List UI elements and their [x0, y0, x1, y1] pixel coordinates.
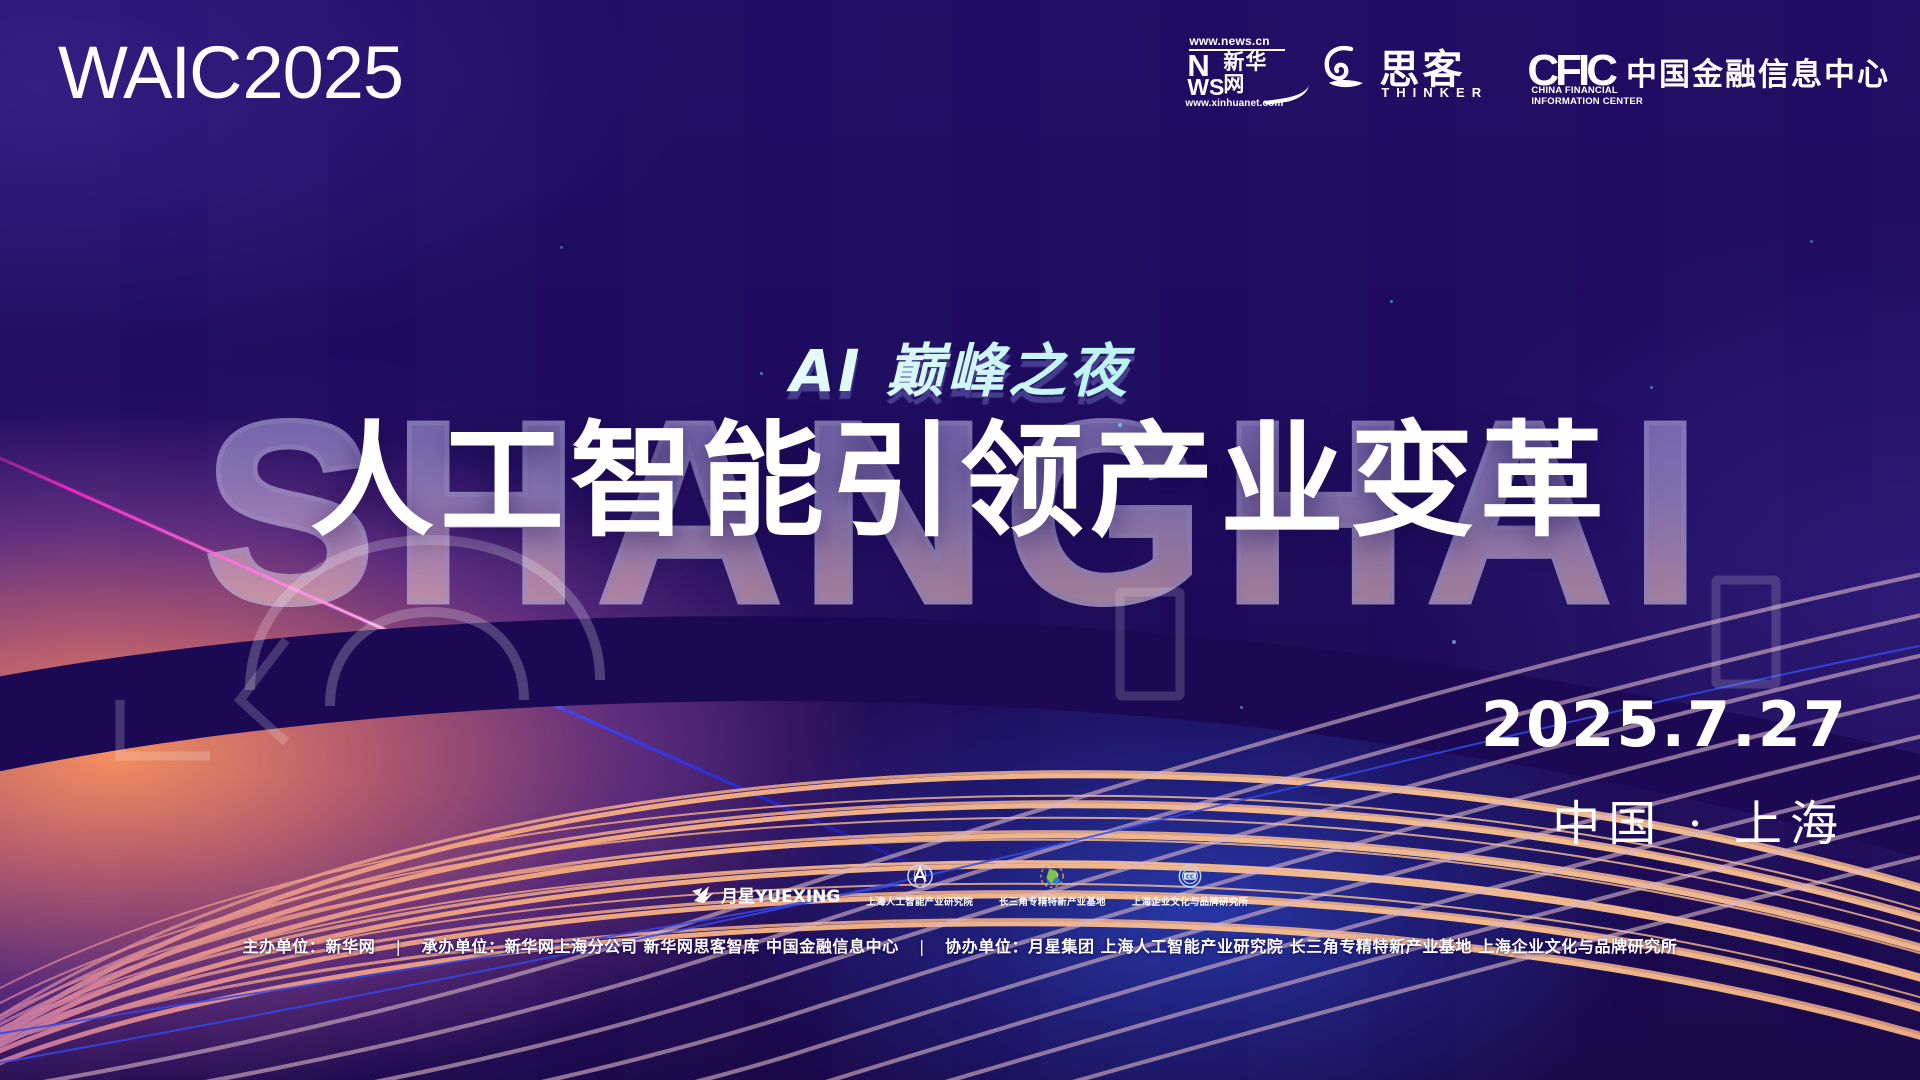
cfic-subtitle-line1: CHINA FINANCIAL: [1531, 85, 1618, 96]
poster-header: WAIC2025 www.news.cn N WS 新华网 www.xinhua…: [0, 0, 1920, 150]
thinker-spiral-icon: [1321, 43, 1373, 91]
waic-logo: WAIC2025: [58, 36, 403, 110]
cfic-cn-name: 中国金融信息中心: [1626, 49, 1890, 94]
secbi-seal-icon: CC: [1176, 863, 1204, 891]
event-poster: SHANGHAI: [0, 0, 1920, 1080]
partner-yuexing: 月星YUEXING: [690, 880, 840, 908]
cfic-subtitle: CHINA FINANCIAL INFORMATION CENTER: [1531, 86, 1643, 108]
organizer-separator-1: |: [382, 937, 416, 956]
xinhuanet-logo: www.news.cn N WS 新华网 www.xinhuanet.com: [1167, 34, 1287, 108]
yuexing-bird-icon: [690, 882, 716, 906]
thinker-logo: 思客 THINKER: [1321, 35, 1493, 107]
yrd-cluster-icon: [1038, 863, 1066, 891]
event-place: 中国 · 上海: [1552, 800, 1846, 848]
saiir-label: 上海人工智能产业研究院: [866, 894, 973, 908]
event-subtitle: AI 巅峰之夜: [0, 324, 1920, 408]
event-date: 2025.7.27: [1481, 694, 1848, 756]
thinker-en-name: THINKER: [1381, 85, 1488, 100]
partner-saiir: 上海人工智能产业研究院: [866, 863, 973, 908]
yrd-base-label: 长三角专精特新产业基地: [999, 894, 1106, 908]
coorganizer-label: 协办单位：月星集团 上海人工智能产业研究院 长三角专精特新产业基地 上海企业文化…: [945, 937, 1677, 956]
xinhuanet-swoosh-icon: [1262, 75, 1311, 105]
organizer-label: 承办单位：新华网上海分公司 新华网思客智库 中国金融信息中心: [422, 937, 899, 956]
partner-secbi: CC 上海企业文化与品牌研究所: [1132, 863, 1248, 908]
partner-logo-strip: 月星YUEXING 上海人工智能产业研究院: [690, 848, 1250, 908]
yuexing-name: 月星YUEXING: [721, 882, 840, 907]
partner-yrd-base: 长三角专精特新产业基地: [999, 863, 1106, 908]
waic-logo-year: 2025: [242, 36, 403, 110]
secbi-label: 上海企业文化与品牌研究所: [1132, 894, 1248, 908]
saiir-globe-icon: [906, 863, 934, 891]
xinhuanet-ws-glyph: WS: [1187, 76, 1224, 99]
sponsor-logo-row: www.news.cn N WS 新华网 www.xinhuanet.com 思…: [1167, 34, 1890, 108]
event-title: 人工智能引领产业变革: [0, 420, 1920, 544]
svg-text:CC: CC: [1186, 874, 1194, 880]
host-label: 主办单位：新华网: [243, 937, 376, 956]
cfic-logo: CFIC CHINA FINANCIAL INFORMATION CENTER …: [1527, 34, 1890, 108]
organizer-separator-2: |: [905, 937, 939, 956]
waic-logo-prefix: WAIC: [58, 36, 240, 110]
xinhuanet-url-top: www.news.cn: [1189, 34, 1269, 48]
yuexing-lockup: 月星YUEXING: [690, 880, 840, 908]
cfic-subtitle-line2: INFORMATION CENTER: [1531, 96, 1643, 107]
organizer-line: 主办单位：新华网 | 承办单位：新华网上海分公司 新华网思客智库 中国金融信息中…: [0, 933, 1920, 957]
